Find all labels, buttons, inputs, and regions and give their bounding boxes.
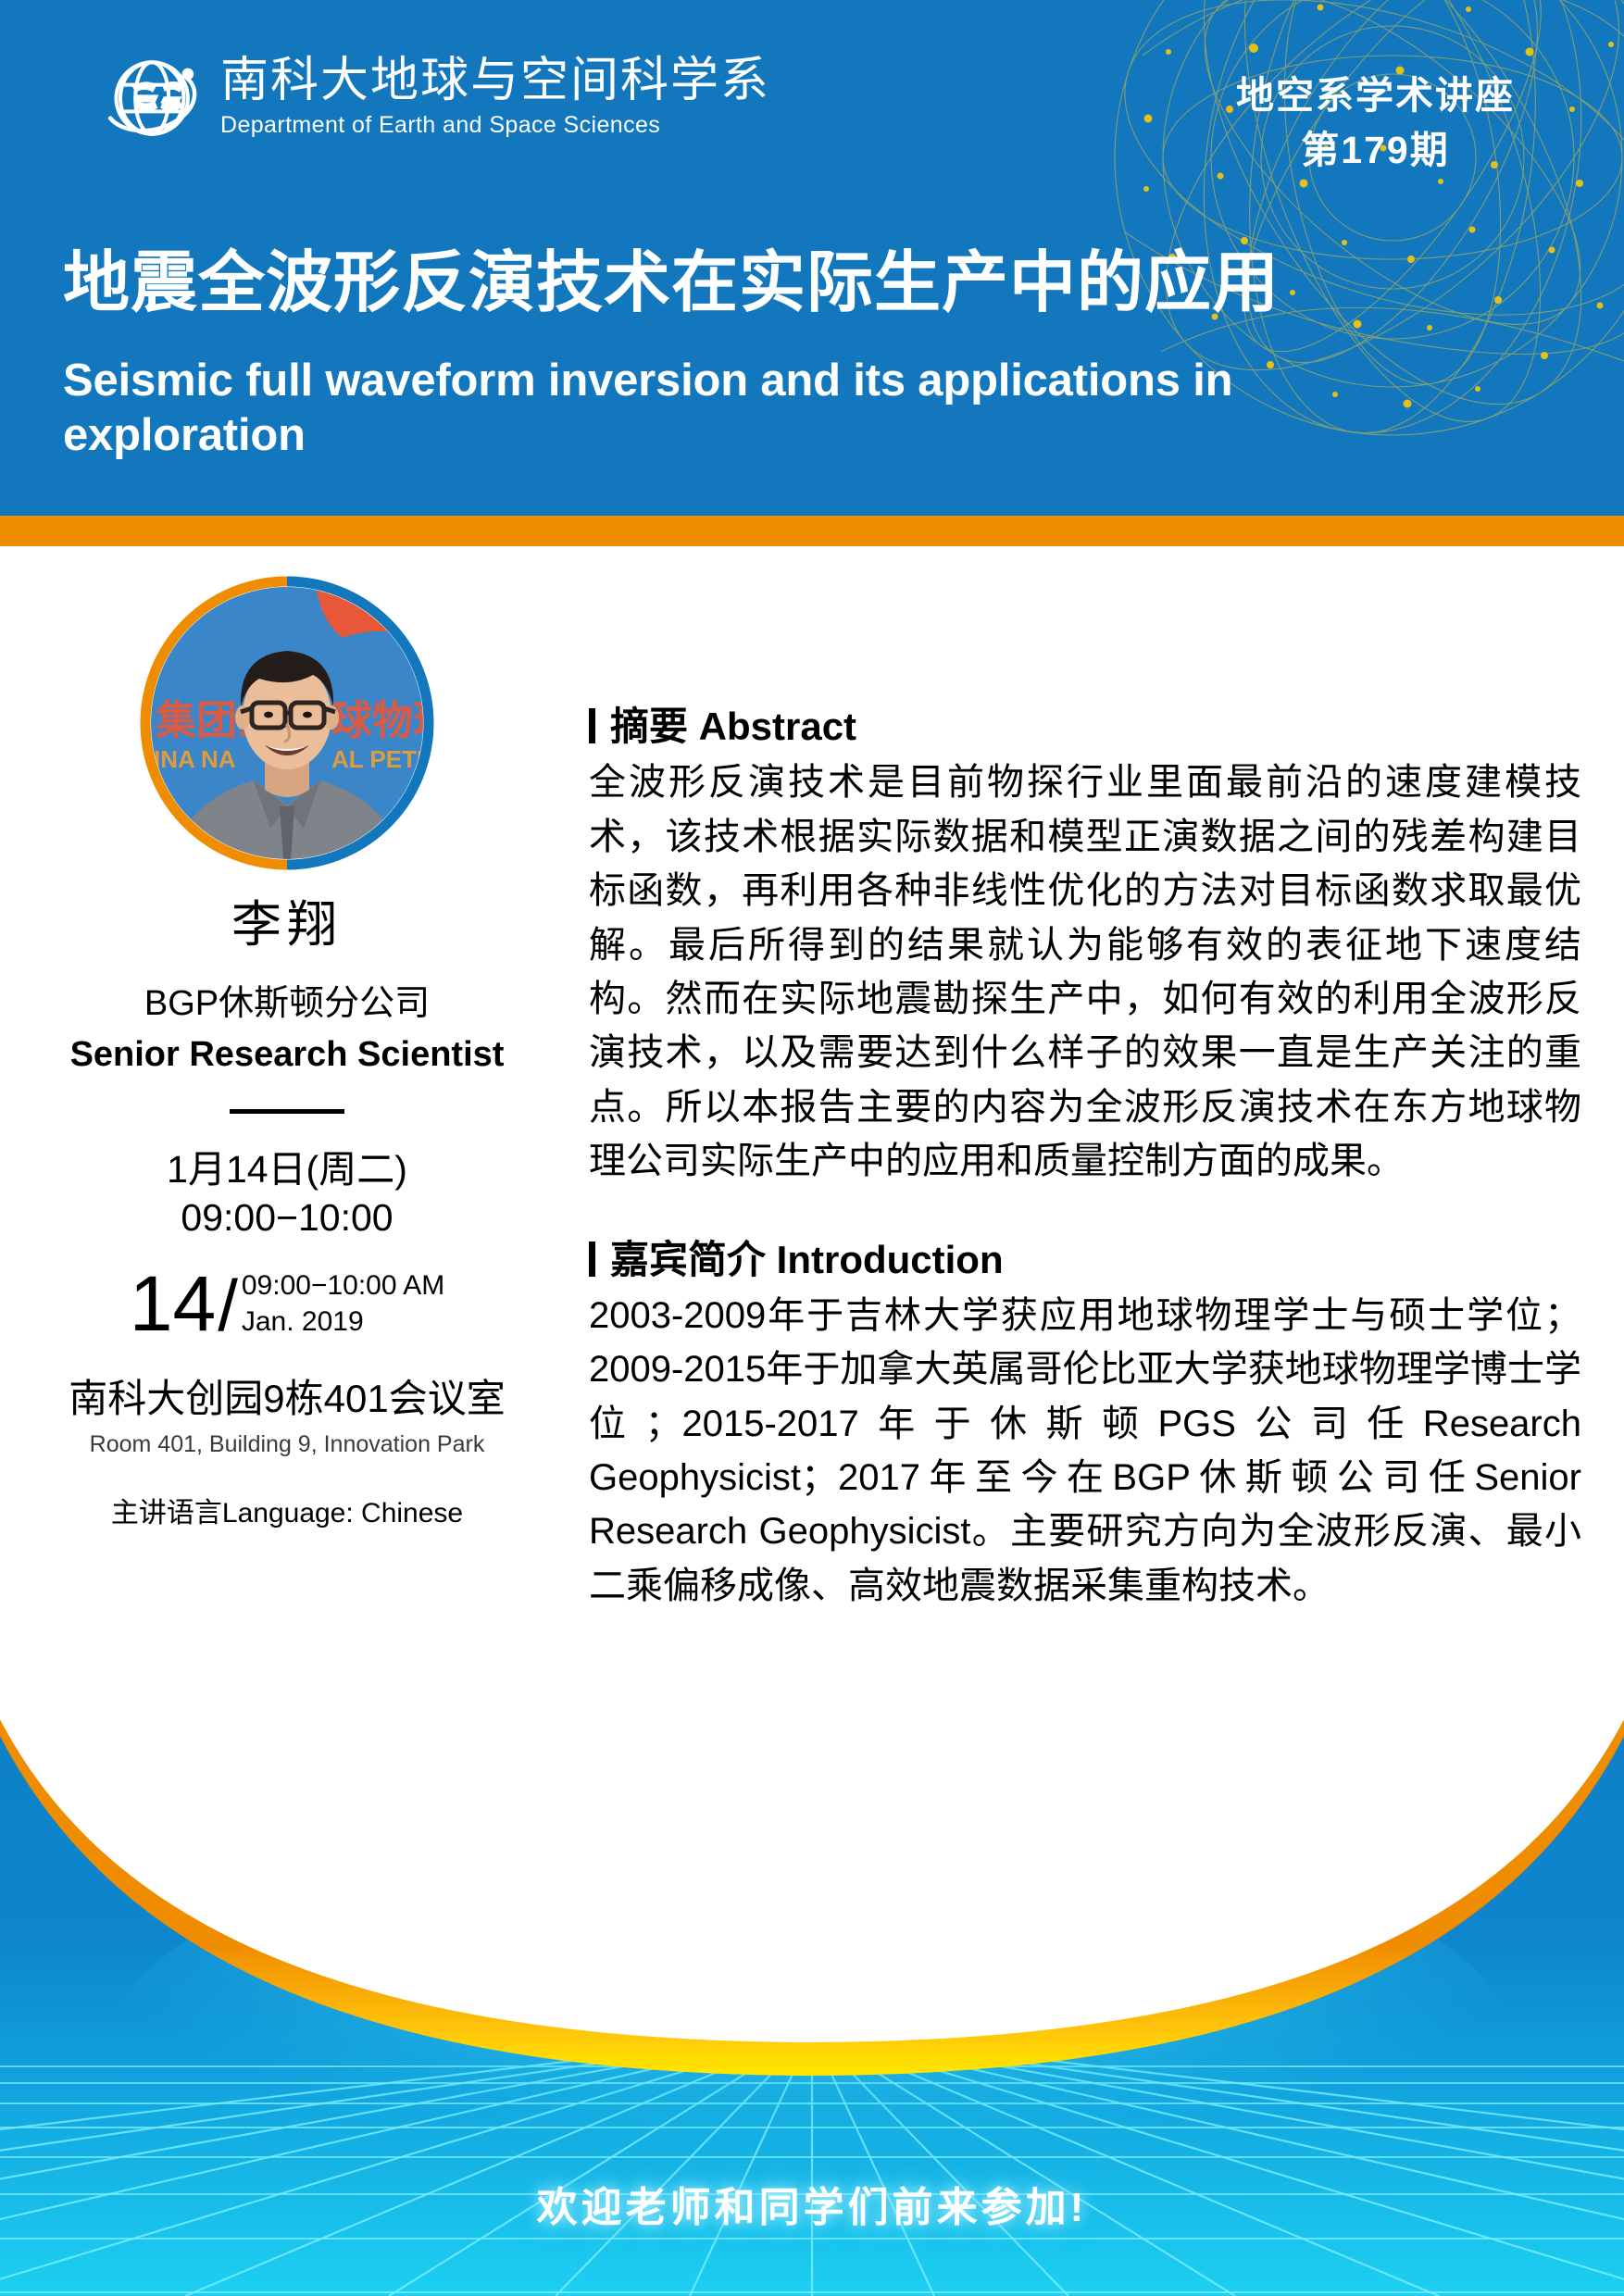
event-time-en: 09:00−10:00 AM [242,1267,444,1304]
logo-name-en: Department of Earth and Space Sciences [220,110,770,141]
talk-title-en: Seismic full waveform inversion and its … [63,354,1480,463]
speaker-photo: 集团东 球物理 INA NA AL PETR [150,586,424,860]
speaker-column: 集团东 球物理 INA NA AL PETR [0,546,574,1530]
avatar: 集团东 球物理 INA NA AL PETR [140,576,434,870]
welcome-message: 欢迎老师和同学们前来参加! [0,2174,1624,2233]
department-logo: 南科大地球与空间科学系 Department of Earth and Spac… [104,48,770,148]
talk-title-cn: 地震全波形反演技术在实际生产中的应用 [63,248,1280,320]
seminar-poster: 南科大地球与空间科学系 Department of Earth and Spac… [0,0,1624,2296]
event-time-cn: 09:00−10:00 [0,1193,574,1242]
speaker-role: Senior Research Scientist [0,1029,574,1080]
lecture-series-badge: 地空系学术讲座 第179期 [1236,72,1515,175]
speaker-name: 李翔 [0,898,574,953]
abstract-body: 全波形反演技术是目前物探行业里面最前沿的速度建模技术，该技术根据实际数据和模型正… [589,755,1581,1188]
abstract-section: 摘要 Abstract 全波形反演技术是目前物探行业里面最前沿的速度建模技术，该… [589,704,1581,1189]
section-divider [230,1109,344,1114]
ess-globe-icon [104,48,204,148]
event-day-number: 14 [130,1267,216,1341]
speaker-affiliation: BGP休斯顿分公司 [0,979,574,1029]
abstract-heading: 摘要 Abstract [589,704,1581,750]
orange-divider-band [0,516,1624,546]
venue-cn: 南科大创园9栋401会议室 [0,1376,574,1422]
content-column: 摘要 Abstract 全波形反演技术是目前物探行业里面最前沿的速度建模技术，该… [589,546,1581,1613]
badge-series-label: 地空系学术讲座 [1236,72,1515,119]
introduction-heading: 嘉宾简介 Introduction [589,1237,1581,1283]
badge-issue-number: 第179期 [1236,127,1515,174]
svg-text:球物理: 球物理 [331,698,424,743]
poster-header: 南科大地球与空间科学系 Department of Earth and Spac… [0,0,1624,516]
event-month-year: Jan. 2019 [242,1304,444,1340]
abstract-heading-label: 摘要 Abstract [610,704,856,750]
poster-body: 集团东 球物理 INA NA AL PETR [0,546,1624,2296]
introduction-heading-label: 嘉宾简介 Introduction [610,1237,1004,1283]
introduction-body: 2003-2009年于吉林大学获应用地球物理学士与硕士学位；2009-2015年… [589,1289,1581,1613]
event-date-details: 09:00−10:00 AM Jan. 2019 [242,1267,444,1340]
event-date-block: 14 / 09:00−10:00 AM Jan. 2019 [0,1267,574,1341]
svg-text:INA NA: INA NA [154,745,236,773]
heading-bar-icon [589,708,595,743]
slash-separator: / [218,1269,238,1341]
introduction-section: 嘉宾简介 Introduction 2003-2009年于吉林大学获应用地球物理… [589,1237,1581,1614]
venue-en: Room 401, Building 9, Innovation Park [0,1430,574,1458]
event-date-cn: 1月14日(周二) [0,1145,574,1193]
heading-bar-icon [589,1242,595,1277]
logo-name-cn: 南科大地球与空间科学系 [220,56,770,106]
language-note: 主讲语言Language: Chinese [0,1497,574,1530]
speaker-photo-illustration: 集团东 球物理 INA NA AL PETR [150,586,424,860]
svg-text:AL PETR: AL PETR [331,745,424,773]
